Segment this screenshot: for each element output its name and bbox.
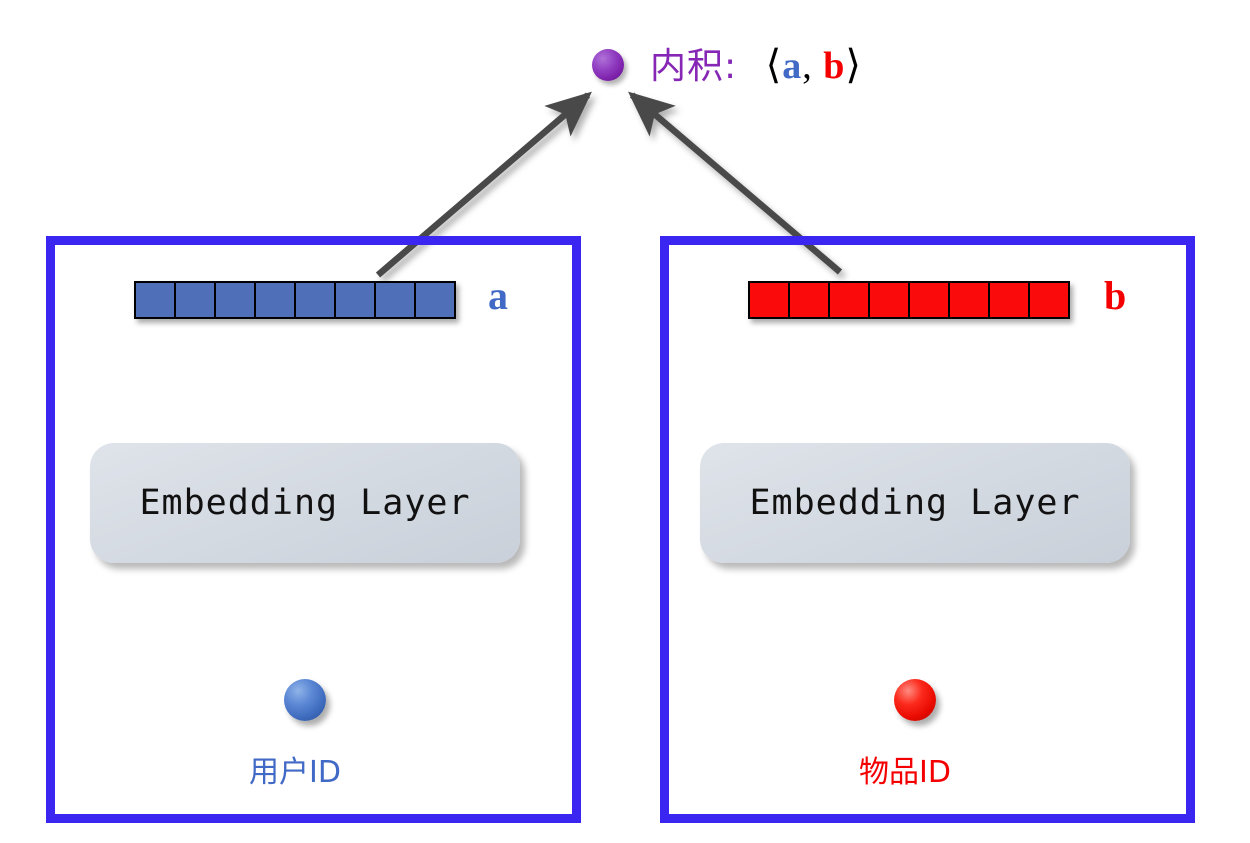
user-embedding-layer[interactable]: Embedding Layer bbox=[90, 443, 520, 563]
item-vector-cell bbox=[948, 281, 990, 319]
user-vector-cell bbox=[134, 281, 176, 319]
item-vector-cell bbox=[748, 281, 790, 319]
item-vector-cell bbox=[868, 281, 910, 319]
user-vector-cell bbox=[374, 281, 416, 319]
inner-product-sphere-icon bbox=[592, 49, 624, 81]
item-vector-cell bbox=[1028, 281, 1070, 319]
item-vector-cell bbox=[908, 281, 950, 319]
user-vector-cell bbox=[254, 281, 296, 319]
user-vector-cell bbox=[214, 281, 256, 319]
item-embedding-layer-label: Embedding Layer bbox=[749, 483, 1080, 523]
item-vector-cell bbox=[788, 281, 830, 319]
user-vector-label: a bbox=[488, 276, 508, 316]
user-embedding-layer-label: Embedding Layer bbox=[139, 483, 470, 523]
user-vector-cell bbox=[294, 281, 336, 319]
user-id-label: 用户ID bbox=[249, 747, 341, 791]
item-embedding-vector bbox=[748, 281, 1070, 319]
user-vector-cell bbox=[414, 281, 456, 319]
item-id-sphere-icon bbox=[894, 679, 936, 721]
diagram-canvas: 内积: ⟨a, b⟩ a Embedding Layer 用户ID b Embe… bbox=[0, 0, 1250, 843]
inner-product-formula: 内积: ⟨a, b⟩ bbox=[650, 37, 862, 89]
formula-vector-b: b bbox=[823, 45, 845, 87]
bracket-close: ⟩ bbox=[845, 42, 862, 87]
item-vector-cell bbox=[828, 281, 870, 319]
item-vector-label: b bbox=[1104, 276, 1126, 316]
formula-separator: , bbox=[802, 45, 813, 87]
bracket-open: ⟨ bbox=[766, 42, 783, 87]
item-vector-cell bbox=[988, 281, 1030, 319]
item-embedding-layer[interactable]: Embedding Layer bbox=[700, 443, 1130, 563]
user-id-sphere-icon bbox=[284, 679, 326, 721]
inner-product-label: 内积: bbox=[650, 46, 737, 87]
item-id-label: 物品ID bbox=[859, 747, 951, 791]
user-vector-cell bbox=[174, 281, 216, 319]
user-vector-cell bbox=[334, 281, 376, 319]
user-embedding-vector bbox=[134, 281, 456, 319]
formula-vector-a: a bbox=[782, 45, 802, 87]
